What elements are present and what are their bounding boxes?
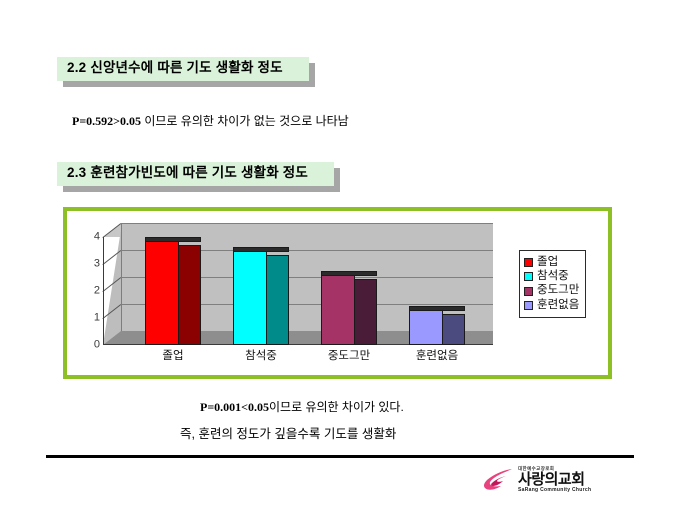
y-axis-tick-label: 4 (94, 232, 100, 243)
x-axis-label-3: 중도그만 (328, 347, 370, 363)
legend-label: 졸업 (537, 256, 558, 269)
flame-logo-icon (482, 467, 514, 493)
section-heading-2-2-label: 2.2 신앙년수에 따른 기도 생활화 정도 (57, 57, 309, 81)
bar-front-face (321, 275, 355, 345)
footer-divider (46, 455, 634, 458)
section-heading-2-2: 2.2 신앙년수에 따른 기도 생활화 정도 (57, 57, 309, 81)
bar-side-face (443, 314, 465, 345)
bar-front-face (145, 241, 179, 345)
x-axis-label-1: 졸업 (162, 347, 183, 363)
legend-item-1: 졸업 (524, 256, 579, 269)
bar-1 (145, 235, 201, 345)
bar-side-face (179, 245, 201, 345)
legend-swatch-icon (524, 301, 533, 310)
x-axis-label-2: 참석중 (245, 347, 277, 363)
chart-plot-area: 01234 졸업참석중중도그만훈련없음 (103, 223, 493, 345)
legend-swatch-icon (524, 272, 533, 281)
bar-4 (409, 304, 465, 345)
legend-item-2: 참석중 (524, 270, 579, 283)
chart-legend: 졸업참석중중도그만훈련없음 (519, 250, 586, 318)
bar-front-face (409, 310, 443, 345)
bar-side-face (267, 255, 289, 346)
y-axis-line (103, 237, 104, 345)
chart-container: 01234 졸업참석중중도그만훈련없음 졸업참석중중도그만훈련없음 (63, 207, 612, 379)
p-value: P=0.592>0.05 (72, 114, 141, 128)
logo-name-korean: 사랑의교회 (518, 472, 591, 487)
section-2-2-body-text: P=0.592>0.05 이므로 유의한 차이가 없는 것으로 나타남 (72, 112, 349, 129)
section-2-3-conclusion-line-2: 즉, 훈련의 정도가 깊을수록 기도를 생활화 (180, 423, 396, 442)
p-value: P=0.001<0.05 (200, 400, 269, 414)
logo-name-english: SaRang Community Church (518, 488, 591, 493)
logo-text-block: 대한예수교장로회 사랑의교회 SaRang Community Church (518, 467, 591, 494)
legend-label: 중도그만 (537, 284, 579, 297)
legend-label: 참석중 (537, 270, 569, 283)
legend-swatch-icon (524, 258, 533, 267)
legend-item-4: 훈련없음 (524, 299, 579, 312)
church-logo: 대한예수교장로회 사랑의교회 SaRang Community Church (482, 463, 614, 497)
legend-item-3: 중도그만 (524, 284, 579, 297)
bar-front-face (233, 251, 267, 346)
bar-side-face (355, 279, 377, 345)
y-axis-tick-label: 1 (94, 313, 100, 324)
legend-swatch-icon (524, 287, 533, 296)
y-axis-tick-label: 0 (94, 340, 100, 351)
y-axis-tick-label: 2 (94, 286, 100, 297)
legend-label: 훈련없음 (537, 299, 579, 312)
bar-3 (321, 269, 377, 345)
section-heading-2-3-label: 2.3 훈련참가빈도에 따른 기도 생활화 정도 (57, 162, 334, 186)
x-axis-label-4: 훈련없음 (416, 347, 458, 363)
bar-2 (233, 245, 289, 346)
section-2-3-conclusion-line-1: P=0.001<0.05이므로 유의한 차이가 있다. (200, 398, 404, 415)
section-heading-2-3: 2.3 훈련참가빈도에 따른 기도 생활화 정도 (57, 162, 334, 186)
gridline (121, 223, 493, 224)
y-axis-tick-label: 3 (94, 259, 100, 270)
